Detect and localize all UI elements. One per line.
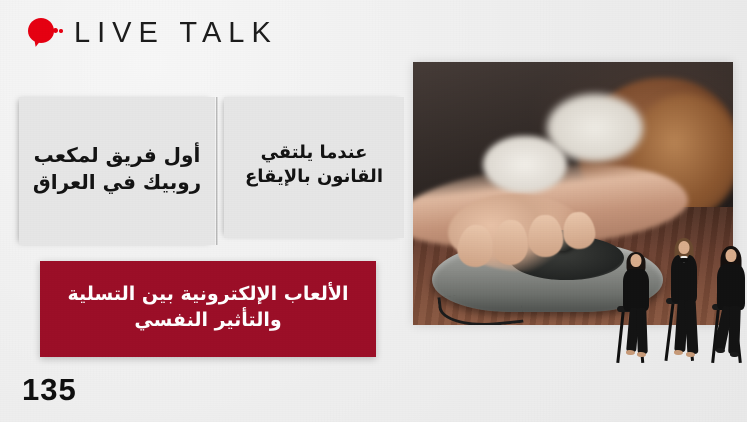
- headline-card-rubiks-cube-team[interactable]: أول فريق لمكعب روبيك في العراق: [19, 97, 215, 245]
- headline-divider: [216, 97, 218, 245]
- brand-logo: LIVE TALK: [28, 12, 278, 54]
- episode-number: 135: [22, 372, 77, 408]
- episode-photo: [413, 62, 733, 325]
- headline-text: أول فريق لمكعب روبيك في العراق: [31, 142, 203, 195]
- brand-name: LIVE TALK: [74, 17, 278, 50]
- speech-bubble-icon: [28, 18, 58, 48]
- feature-banner-video-games[interactable]: الألعاب الإلكترونية بين التسلية والتأثير…: [40, 261, 376, 357]
- headline-card-law-meets-rhythm[interactable]: عندما يلتقي القانون بالإيقاع: [224, 97, 404, 238]
- photo-image: [413, 62, 733, 325]
- headline-text: عندما يلتقي القانون بالإيقاع: [234, 141, 394, 189]
- banner-text: الألعاب الإلكترونية بين التسلية والتأثير…: [54, 281, 362, 333]
- broadcast-promo-canvas: LIVE TALK أول فريق لمكعب روبيك في العراق…: [0, 0, 747, 422]
